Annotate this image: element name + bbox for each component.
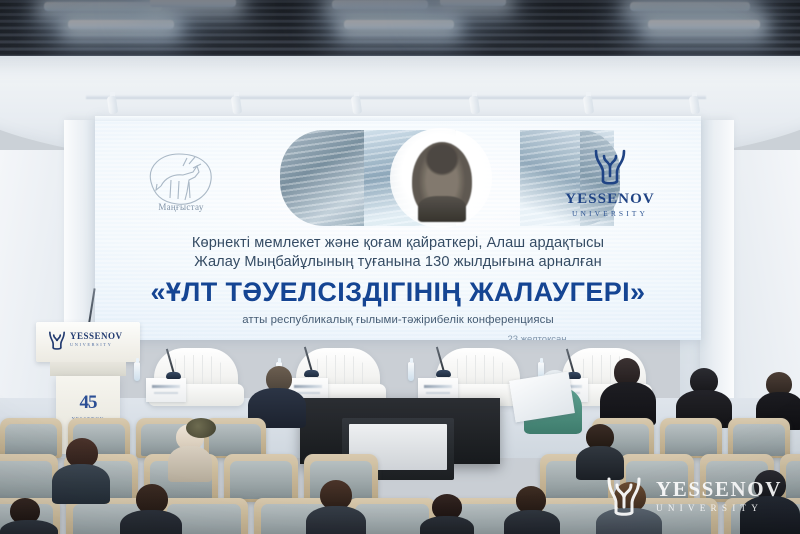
yessenov-subtitle: UNIVERSITY xyxy=(547,209,673,218)
track-spotlight-icon xyxy=(690,92,699,114)
track-spotlight-icon xyxy=(232,92,241,114)
audience-seat xyxy=(0,454,58,502)
podium-yessenov-mark-icon xyxy=(46,329,68,351)
podium-neck xyxy=(50,362,126,376)
table-microphone xyxy=(310,346,313,376)
ceiling-tube-light xyxy=(630,2,750,11)
screen-date-line1: 23 желтоқсан xyxy=(477,334,597,340)
audience-member xyxy=(576,424,624,476)
water-bottle xyxy=(134,362,140,381)
screen-top-edge xyxy=(95,116,701,121)
ceiling-tube-light xyxy=(440,0,506,6)
audience-member xyxy=(120,484,182,534)
yessenov-university-logo: YESSENOV UNIVERSITY xyxy=(547,146,673,218)
table-microphone xyxy=(442,346,445,376)
screen-date-note: 23 желтоқсан қаласы xyxy=(477,334,597,340)
track-spotlight-icon xyxy=(108,92,117,114)
screen-headline-line1: Көрнекті мемлекет және қоғам қайраткері,… xyxy=(95,234,701,253)
audience-member xyxy=(504,486,560,534)
podium-top: YESSENOV UNIVERSITY xyxy=(36,322,140,362)
screen-text-block: Көрнекті мемлекет және қоғам қайраткері,… xyxy=(95,234,701,326)
ceiling-tube-light xyxy=(344,20,454,29)
anniversary-number: 45 xyxy=(56,392,120,414)
screen-title: «ҰЛТ ТӘУЕЛСІЗДІГІНІҢ ЖАЛАУГЕРІ» xyxy=(95,277,701,308)
table-microphone xyxy=(172,348,175,378)
mangystau-logo-caption: Маңғыстау xyxy=(135,202,227,212)
track-spotlight-icon xyxy=(470,92,479,114)
audience-member xyxy=(186,418,216,438)
screen-subtitle: атты республикалық ғылыми-тәжірибелік ко… xyxy=(95,314,701,326)
audience-member xyxy=(420,494,474,534)
conference-photo: Маңғыстау YESSENOV UNIVERSITY Көрнекті м… xyxy=(0,0,800,534)
audience-member xyxy=(306,480,366,534)
ceiling-tube-light xyxy=(648,20,760,29)
podium-wordmark: YESSENOV xyxy=(70,331,123,341)
podium-wordmark-group: YESSENOV UNIVERSITY xyxy=(70,331,123,347)
portrait-photo xyxy=(412,142,472,220)
ceiling-tube-light xyxy=(44,2,162,11)
yessenov-university-watermark: YESSENOV UNIVERSITY xyxy=(602,474,782,518)
track-spotlight-icon xyxy=(584,92,593,114)
projection-screen: Маңғыстау YESSENOV UNIVERSITY Көрнекті м… xyxy=(95,116,701,340)
ceiling-tube-light xyxy=(150,0,236,7)
watermark-wordmark: YESSENOV xyxy=(656,479,782,500)
audience-seat xyxy=(224,454,298,502)
track-spotlight-icon xyxy=(352,92,361,114)
podium-subtitle: UNIVERSITY xyxy=(70,342,123,347)
lighting-track xyxy=(86,95,706,99)
watermark-text-group: YESSENOV UNIVERSITY xyxy=(656,479,782,513)
ceiling-tube-light xyxy=(332,0,428,9)
audience-member xyxy=(0,498,58,534)
audience-member xyxy=(52,438,110,498)
yessenov-wordmark: YESSENOV xyxy=(547,191,673,208)
yessenov-y-mark-icon xyxy=(590,146,630,186)
water-bottle xyxy=(408,362,414,381)
panel-participant xyxy=(600,358,656,422)
panel-nameplate xyxy=(146,378,186,402)
screen-headline-line2: Жалау Мыңбайұлының туғанына 130 жылдығын… xyxy=(95,253,701,272)
watermark-subtitle: UNIVERSITY xyxy=(656,503,782,513)
landscape-photo-tile xyxy=(280,130,368,226)
ceiling-tube-light xyxy=(68,20,174,29)
watermark-y-mark-icon xyxy=(602,474,646,518)
hair-ornament xyxy=(186,418,216,438)
